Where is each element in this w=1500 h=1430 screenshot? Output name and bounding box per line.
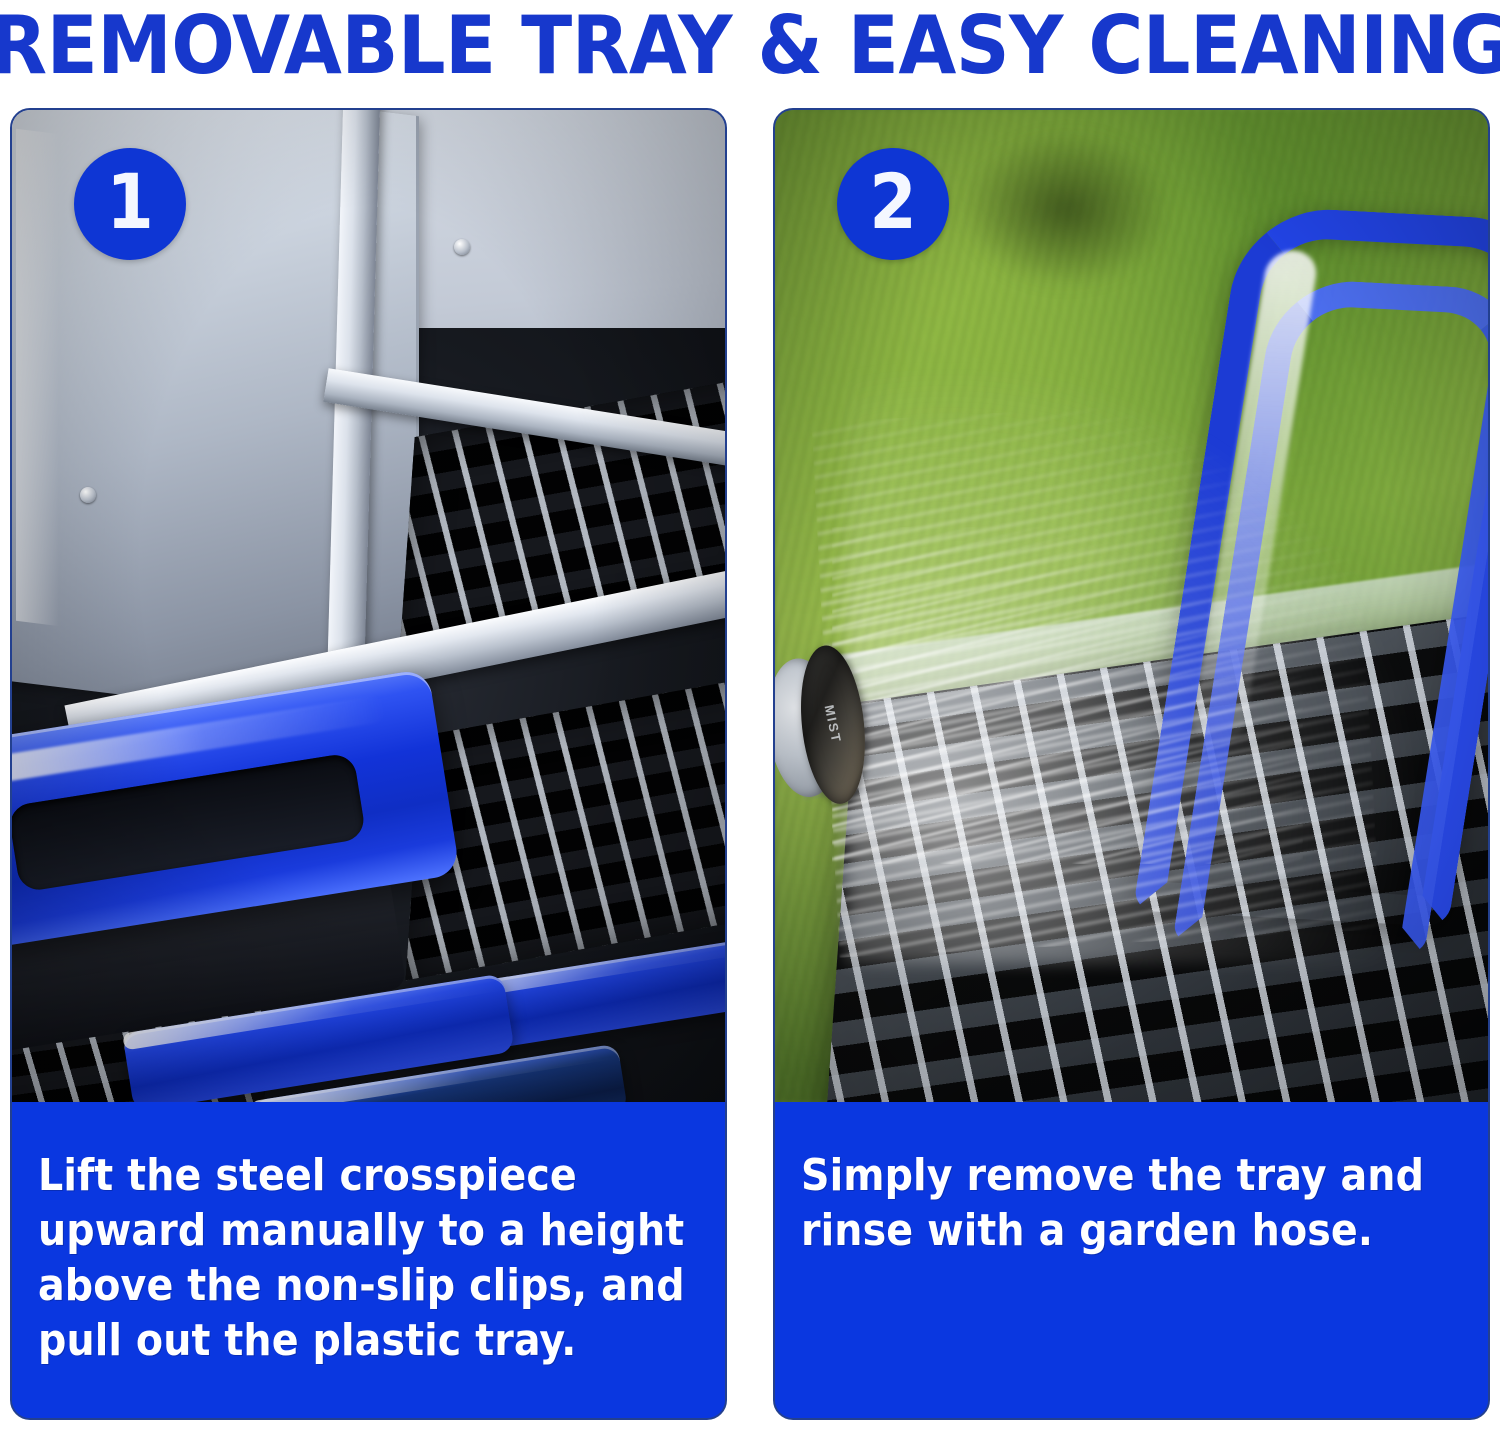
- step-badge-number: 2: [869, 164, 917, 240]
- step-2-caption-text: Simply remove the tray and rinse with a …: [801, 1148, 1462, 1258]
- step-2-photo: MIST 2: [775, 110, 1488, 1102]
- step-1-caption: Lift the steel crosspiece upward manuall…: [12, 1102, 725, 1418]
- step-1-photo: 1: [12, 110, 725, 1102]
- page-title: REMOVABLE TRAY & EASY CLEANING: [0, 0, 1500, 96]
- step-1-caption-text: Lift the steel crosspiece upward manuall…: [38, 1148, 699, 1368]
- step-badge-number: 1: [106, 164, 154, 240]
- step-2-caption: Simply remove the tray and rinse with a …: [775, 1102, 1488, 1418]
- step-badge-1: 1: [74, 148, 186, 260]
- steps-container: 1 Lift the steel crosspiece upward manua…: [10, 108, 1490, 1420]
- infographic-page: REMOVABLE TRAY & EASY CLEANING: [0, 0, 1500, 1430]
- step-panel-2: MIST 2 Simply remove the tray and rinse …: [773, 108, 1490, 1420]
- step-badge-2: 2: [837, 148, 949, 260]
- step-panel-1: 1 Lift the steel crosspiece upward manua…: [10, 108, 727, 1420]
